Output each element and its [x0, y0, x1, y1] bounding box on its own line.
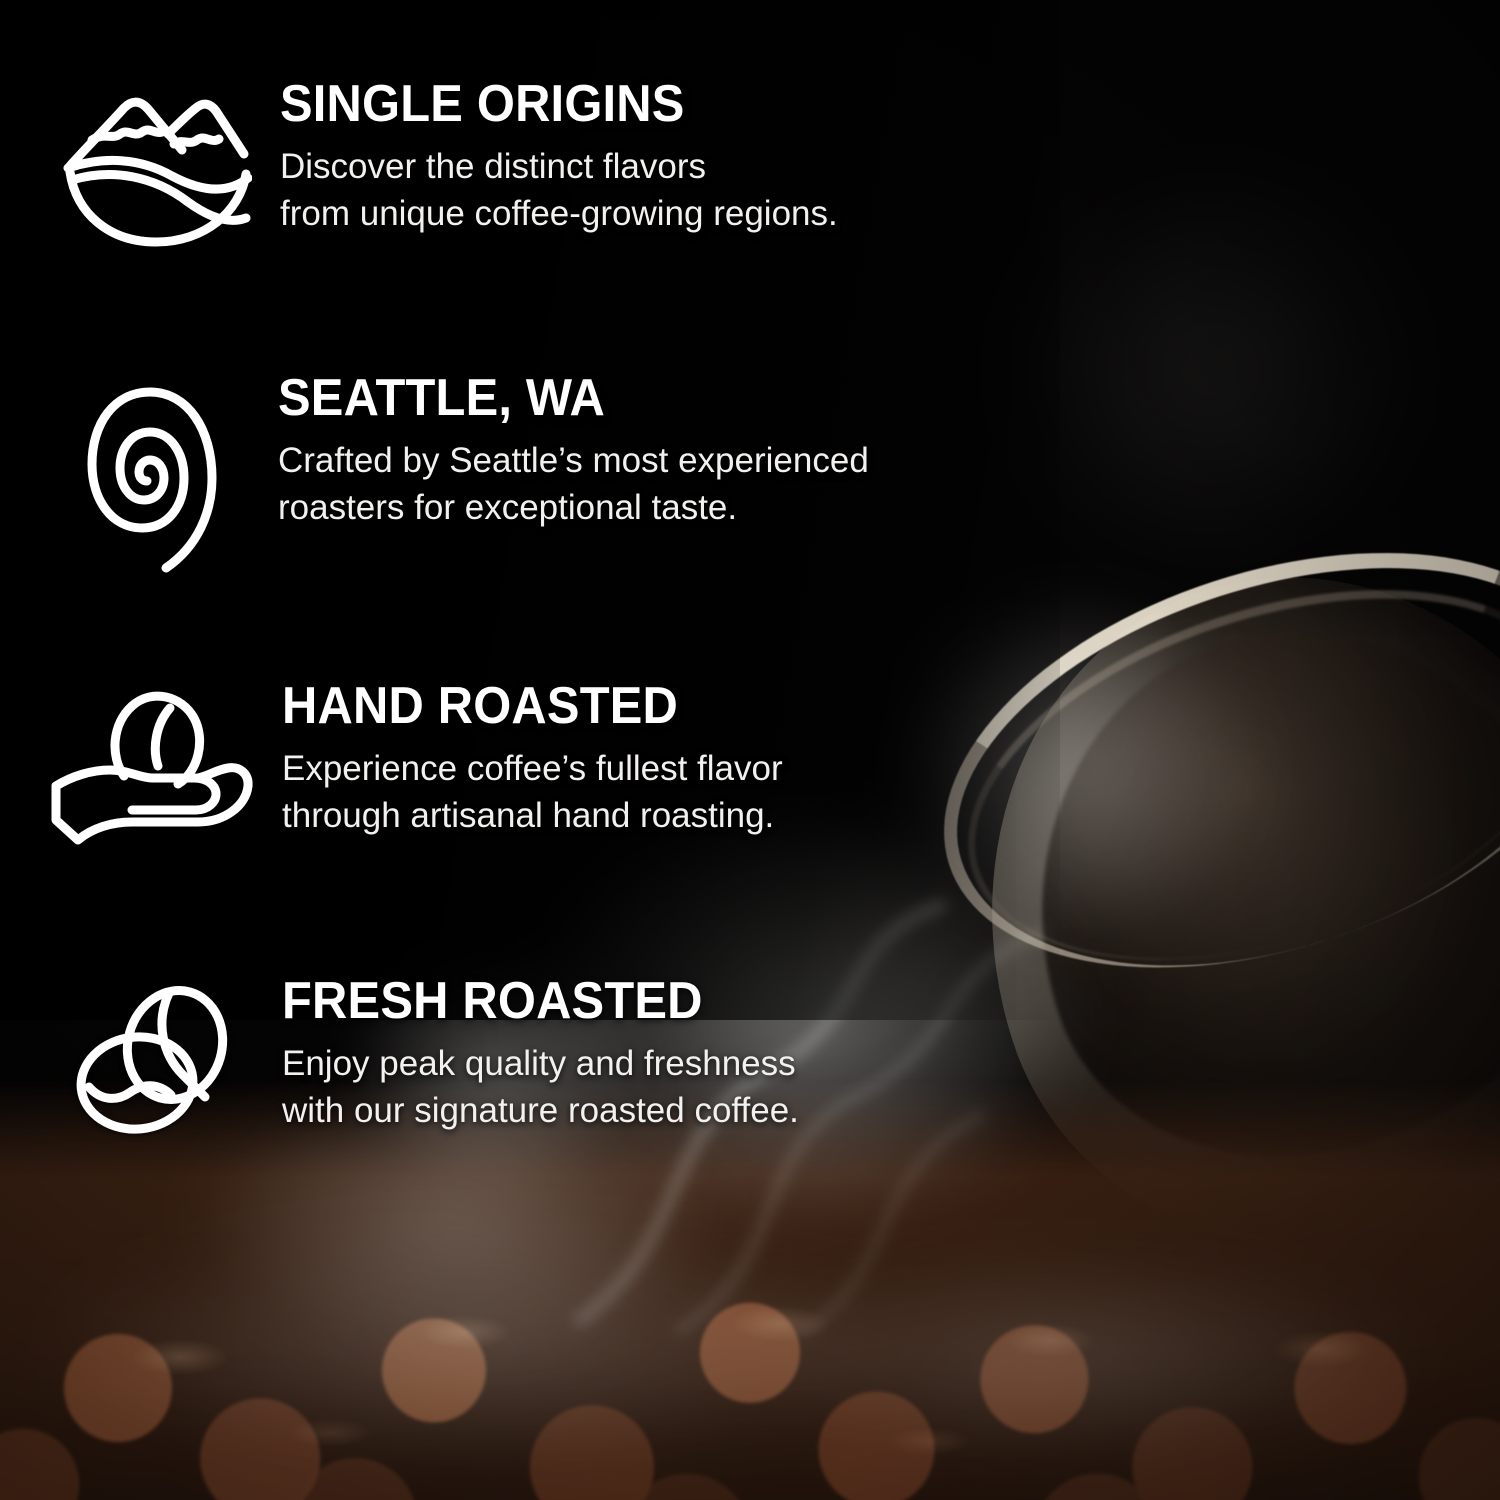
feature-text: SEATTLE, WA Crafted by Seattle’s most ex… [278, 372, 869, 532]
feature-description-line: through artisanal hand roasting. [282, 793, 783, 840]
feature-item-hand-roasted: HAND ROASTED Experience coffee’s fullest… [48, 680, 783, 850]
feature-description: Crafted by Seattle’s most experienced ro… [278, 438, 869, 532]
product-feature-banner: SINGLE ORIGINS Discover the distinct fla… [0, 0, 1500, 1500]
mountain-coffee-bean-icon [62, 78, 252, 249]
feature-title: HAND ROASTED [282, 680, 753, 732]
feature-description-line: with our signature roasted coffee. [282, 1088, 799, 1135]
feature-item-single-origins: SINGLE ORIGINS Discover the distinct fla… [62, 78, 838, 249]
feature-description: Enjoy peak quality and freshness with ou… [282, 1041, 799, 1135]
two-coffee-beans-icon [62, 975, 254, 1143]
feature-item-seattle-wa: SEATTLE, WA Crafted by Seattle’s most ex… [62, 372, 869, 573]
feature-title: SINGLE ORIGINS [280, 78, 804, 130]
feature-description: Experience coffee’s fullest flavor throu… [282, 746, 783, 840]
feature-description-line: Enjoy peak quality and freshness [282, 1041, 799, 1088]
feature-text: FRESH ROASTED Enjoy peak quality and fre… [282, 975, 799, 1135]
feature-description-line: Experience coffee’s fullest flavor [282, 746, 783, 793]
feature-text: SINGLE ORIGINS Discover the distinct fla… [280, 78, 838, 238]
feature-description-line: from unique coffee-growing regions. [280, 191, 838, 238]
feature-text: HAND ROASTED Experience coffee’s fullest… [282, 680, 783, 840]
feature-title: FRESH ROASTED [282, 975, 768, 1027]
feature-description: Discover the distinct flavors from uniqu… [280, 144, 838, 238]
fingerprint-spiral-icon [62, 372, 248, 573]
feature-description-line: Discover the distinct flavors [280, 144, 838, 191]
hand-holding-bean-icon [48, 680, 256, 850]
feature-item-fresh-roasted: FRESH ROASTED Enjoy peak quality and fre… [62, 975, 799, 1143]
feature-description-line: roasters for exceptional taste. [278, 485, 869, 532]
feature-title: SEATTLE, WA [278, 372, 833, 424]
feature-description-line: Crafted by Seattle’s most experienced [278, 438, 869, 485]
